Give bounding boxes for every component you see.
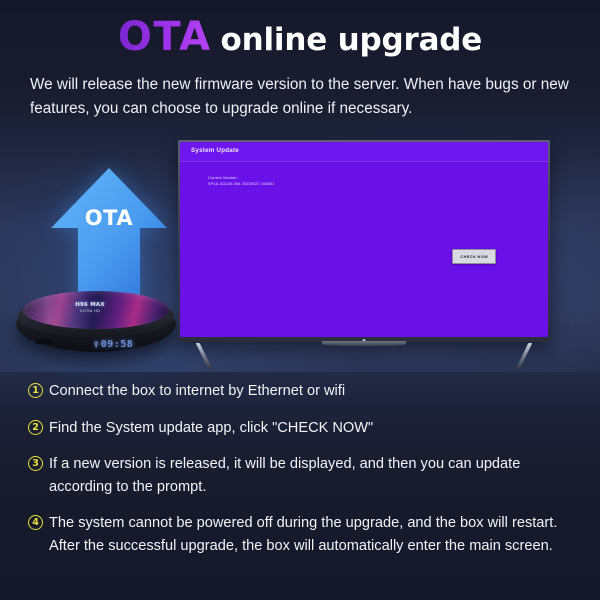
current-version-block: Current Version: SP1A.311105.004 2023032…	[208, 175, 275, 187]
step-text: Connect the box to internet by Ethernet …	[49, 380, 345, 403]
box-logo: H96 MAX ULTRA HD	[50, 300, 130, 315]
box-port	[36, 339, 52, 344]
list-item: 3 If a new version is released, it will …	[28, 453, 580, 498]
step-text: The system cannot be powered off during …	[49, 512, 580, 557]
instruction-steps: 1 Connect the box to internet by Etherne…	[28, 380, 580, 571]
infographic-page: OTA online upgrade We will release the n…	[0, 0, 600, 600]
step-number: 2	[28, 420, 43, 435]
check-now-button[interactable]: CHECK NOW	[452, 249, 496, 264]
android-tv-box: H96 MAX ULTRA HD ⍒ 09:58	[16, 288, 176, 364]
list-item: 4 The system cannot be powered off durin…	[28, 512, 580, 557]
arrow-label: OTA	[48, 206, 170, 230]
box-led-display: ⍒ 09:58	[94, 338, 150, 351]
box-logo-sub: ULTRA HD	[80, 308, 100, 314]
page-subtitle: We will release the new firmware version…	[30, 73, 578, 121]
tv-bezel: System Update Current Version: SP1A.3111…	[178, 140, 550, 342]
page-title: OTA online upgrade	[118, 14, 482, 60]
appbar-title: System Update	[191, 147, 239, 154]
tv-chin	[322, 341, 406, 346]
box-led-time: 09:58	[101, 339, 134, 350]
step-number: 3	[28, 456, 43, 471]
ota-arrow-graphic: OTA	[48, 166, 170, 301]
current-version-value: SP1A.311105.004 20230327.165501	[208, 181, 275, 187]
television: System Update Current Version: SP1A.3111…	[178, 140, 550, 355]
page-header: OTA online upgrade	[0, 14, 600, 60]
up-arrow-icon	[48, 166, 170, 301]
title-accent-ota: OTA	[118, 14, 212, 60]
step-text: If a new version is released, it will be…	[49, 453, 580, 498]
list-item: 1 Connect the box to internet by Etherne…	[28, 380, 580, 403]
list-item: 2 Find the System update app, click "CHE…	[28, 417, 580, 440]
title-rest: online upgrade	[221, 22, 483, 58]
step-number: 4	[28, 515, 43, 530]
tv-screen: System Update Current Version: SP1A.3111…	[180, 142, 548, 337]
step-text: Find the System update app, click "CHECK…	[49, 417, 373, 440]
wifi-icon: ⍒	[94, 341, 99, 349]
system-update-appbar: System Update	[180, 142, 548, 162]
step-number: 1	[28, 383, 43, 398]
